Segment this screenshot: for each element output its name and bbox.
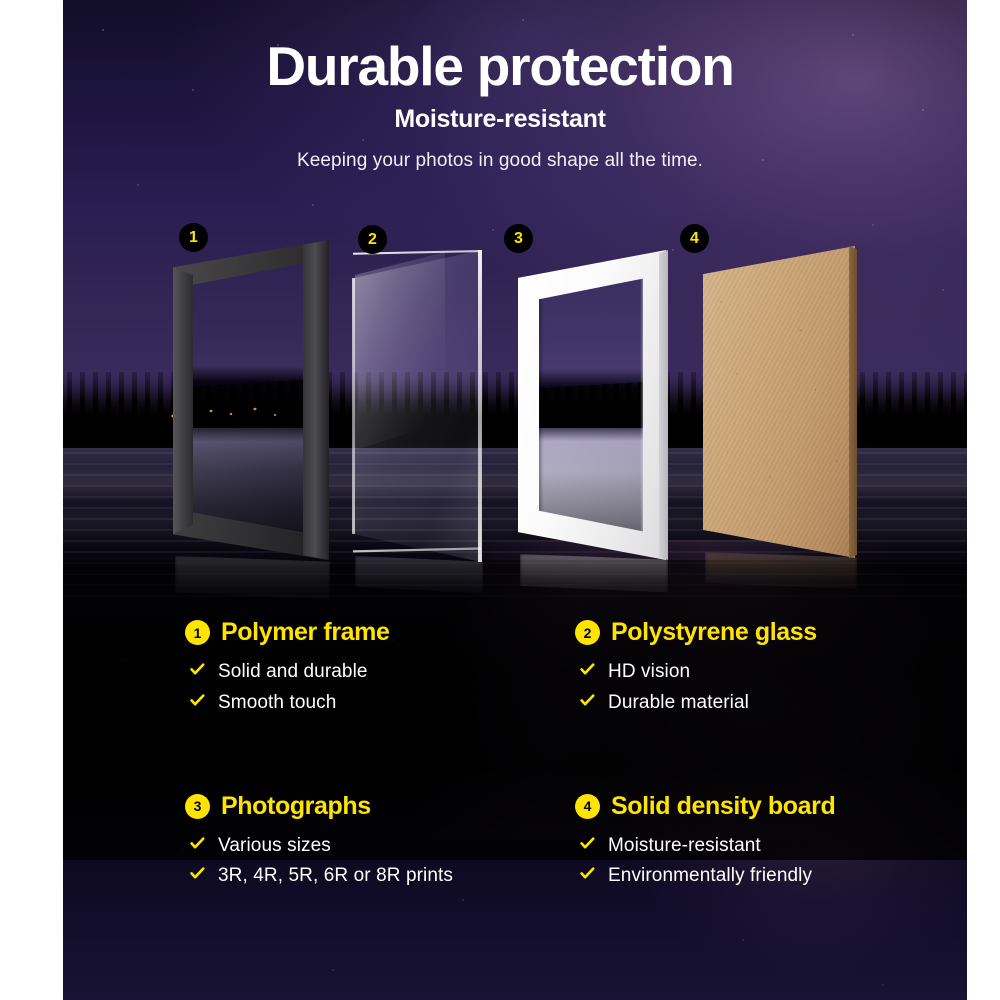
mat-reflection bbox=[520, 554, 668, 618]
check-icon bbox=[580, 837, 595, 850]
check-icon bbox=[580, 663, 595, 676]
bullet-text: Moisture-resistant bbox=[608, 834, 761, 858]
feature-photographs: 3 Photographs Various sizes 3R, 4R, 5R, … bbox=[185, 794, 575, 896]
list-item: Moisture-resistant bbox=[575, 834, 965, 858]
check-icon bbox=[580, 694, 595, 707]
feature-header: 4 Solid density board bbox=[575, 794, 965, 819]
feature-badge-4: 4 bbox=[575, 794, 600, 819]
list-item: Solid and durable bbox=[185, 660, 575, 684]
check-icon bbox=[190, 837, 205, 850]
bullet-text: 3R, 4R, 5R, 6R or 8R prints bbox=[218, 864, 453, 888]
feature-bullets: Solid and durable Smooth touch bbox=[185, 660, 575, 715]
glass-reflection bbox=[355, 556, 483, 618]
board-right-edge bbox=[849, 246, 857, 558]
feature-badge-1: 1 bbox=[185, 620, 210, 645]
feature-solid-density-board: 4 Solid density board Moisture-resistant… bbox=[575, 794, 965, 896]
density-board-part bbox=[703, 246, 855, 558]
feature-header: 1 Polymer frame bbox=[185, 620, 575, 645]
glass-right-edge bbox=[478, 250, 482, 562]
feature-bullets: Various sizes 3R, 4R, 5R, 6R or 8R print… bbox=[185, 834, 575, 889]
bullet-text: HD vision bbox=[608, 660, 690, 684]
page-subtitle: Moisture-resistant bbox=[0, 105, 1000, 134]
feature-title: Solid density board bbox=[611, 794, 835, 819]
board-reflection bbox=[705, 552, 857, 614]
frame-reflection bbox=[175, 556, 330, 626]
callout-badge-1: 1 bbox=[179, 223, 208, 252]
feature-header: 3 Photographs bbox=[185, 794, 575, 819]
feature-polymer-frame: 1 Polymer frame Solid and durable Smooth… bbox=[185, 620, 575, 722]
feature-bullets: Moisture-resistant Environmentally frien… bbox=[575, 834, 965, 889]
header-block: Durable protection Moisture-resistant Ke… bbox=[0, 0, 1000, 172]
feature-bullets: HD vision Durable material bbox=[575, 660, 965, 715]
bullet-text: Smooth touch bbox=[218, 691, 336, 715]
check-icon bbox=[580, 867, 595, 880]
callout-badge-4: 4 bbox=[680, 224, 709, 253]
feature-grid: 1 Polymer frame Solid and durable Smooth… bbox=[185, 620, 985, 895]
check-icon bbox=[190, 694, 205, 707]
page-title: Durable protection bbox=[0, 38, 1000, 96]
mat-right-edge bbox=[659, 250, 668, 560]
feature-header: 2 Polystyrene glass bbox=[575, 620, 965, 645]
mat-inner-bevel bbox=[539, 276, 643, 534]
feature-polystyrene-glass: 2 Polystyrene glass HD vision Durable ma… bbox=[575, 620, 965, 722]
frame-right-edge bbox=[303, 240, 329, 560]
callout-badge-2: 2 bbox=[358, 225, 387, 254]
feature-title: Polymer frame bbox=[221, 620, 390, 645]
feature-badge-3: 3 bbox=[185, 794, 210, 819]
feature-title: Polystyrene glass bbox=[611, 620, 817, 645]
callout-badge-3: 3 bbox=[504, 224, 533, 253]
feature-title: Photographs bbox=[221, 794, 371, 819]
frame-window-lights-overlay bbox=[197, 404, 293, 420]
bullet-text: Durable material bbox=[608, 691, 749, 715]
list-item: Various sizes bbox=[185, 834, 575, 858]
bullet-text: Solid and durable bbox=[218, 660, 368, 684]
glass-left-edge bbox=[352, 250, 355, 562]
check-icon bbox=[190, 663, 205, 676]
list-item: Environmentally friendly bbox=[575, 864, 965, 888]
list-item: HD vision bbox=[575, 660, 965, 684]
feature-badge-2: 2 bbox=[575, 620, 600, 645]
page-tagline: Keeping your photos in good shape all th… bbox=[0, 150, 1000, 172]
list-item: Durable material bbox=[575, 691, 965, 715]
frame-left-bevel bbox=[173, 240, 193, 560]
list-item: Smooth touch bbox=[185, 691, 575, 715]
bullet-text: Various sizes bbox=[218, 834, 331, 858]
check-icon bbox=[190, 867, 205, 880]
list-item: 3R, 4R, 5R, 6R or 8R prints bbox=[185, 864, 575, 888]
product-infographic: 1 2 3 4 Durable protection Moisture-resi… bbox=[0, 0, 1000, 1000]
bullet-text: Environmentally friendly bbox=[608, 864, 812, 888]
